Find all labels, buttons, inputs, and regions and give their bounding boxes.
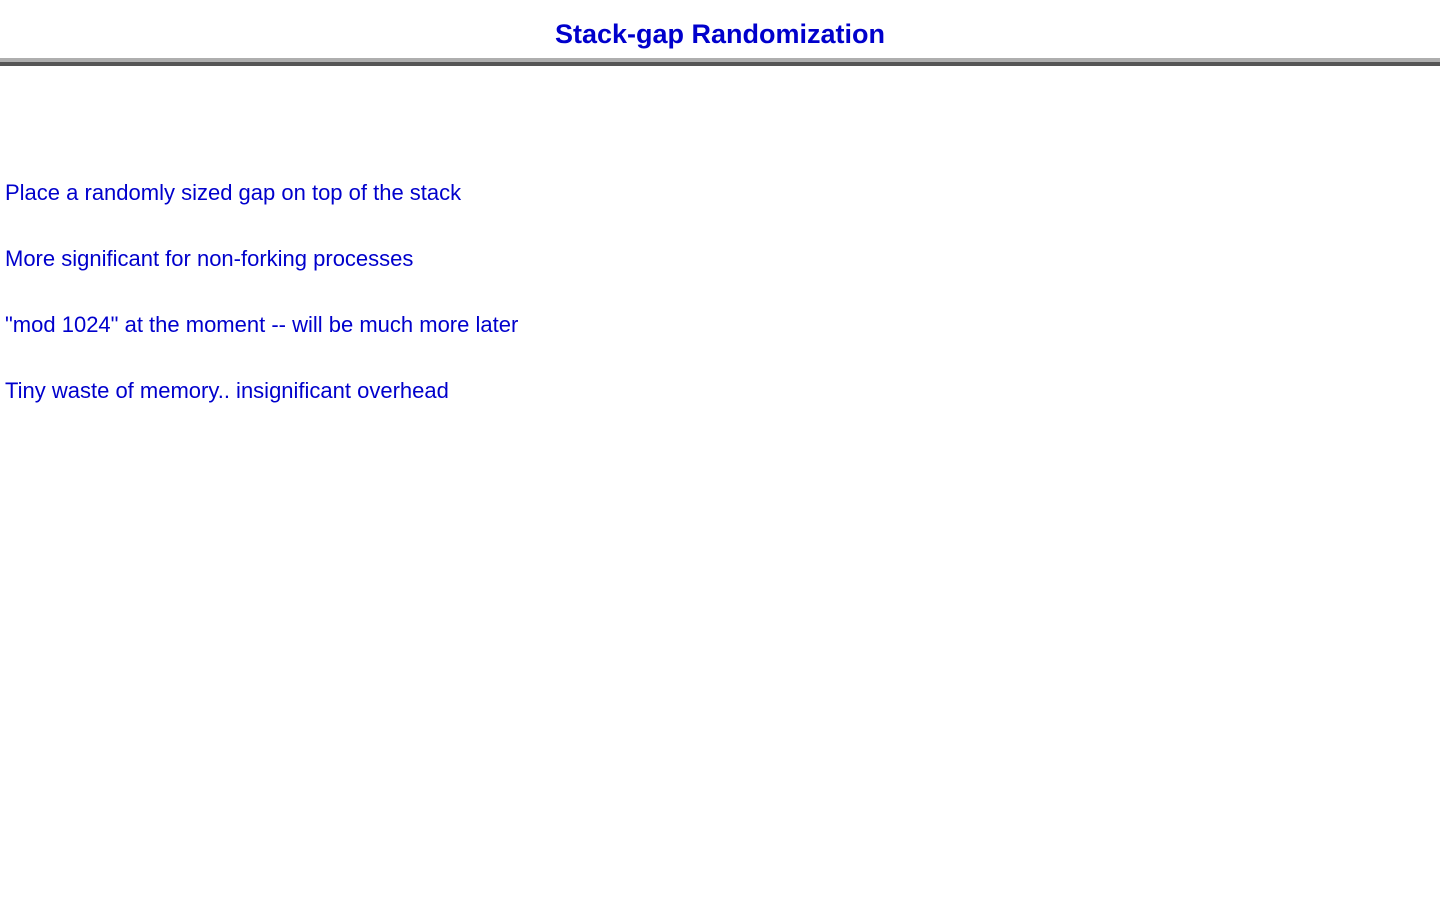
list-item: "mod 1024" at the moment -- will be much… bbox=[0, 314, 518, 336]
list-item: Place a randomly sized gap on top of the… bbox=[0, 182, 461, 204]
page-title: Stack-gap Randomization bbox=[0, 0, 1440, 48]
slide: Stack-gap Randomization Place a randomly… bbox=[0, 0, 1440, 900]
slide-body: Place a randomly sized gap on top of the… bbox=[0, 70, 1440, 900]
title-divider bbox=[0, 58, 1440, 66]
list-item: Tiny waste of memory.. insignificant ove… bbox=[0, 380, 449, 402]
list-item: More significant for non-forking process… bbox=[0, 248, 413, 270]
divider-shadow-band bbox=[0, 62, 1440, 66]
